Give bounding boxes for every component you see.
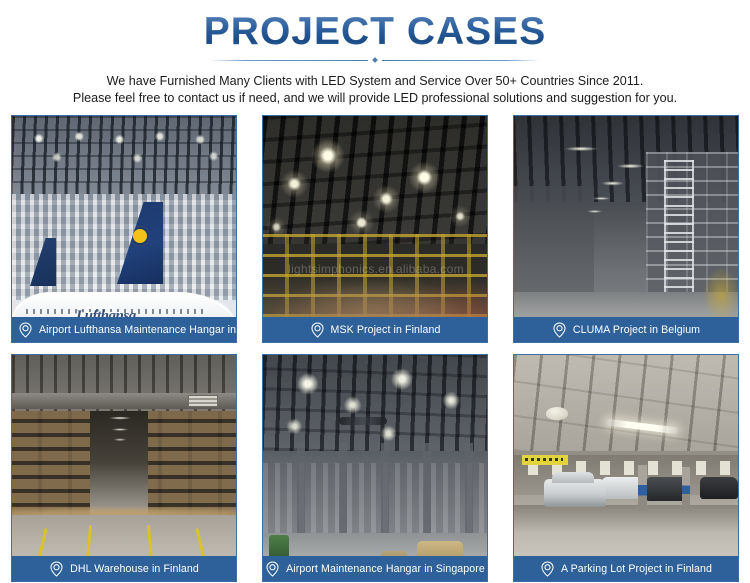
case-caption-text: MSK Project in Finland [331, 324, 441, 336]
garage-sign [522, 455, 568, 465]
location-pin-icon [552, 322, 567, 338]
case-caption-text: A Parking Lot Project in Finland [561, 563, 712, 575]
title-divider-diamond-icon [372, 57, 378, 63]
location-pin-icon [265, 561, 280, 577]
page-subtitle: We have Furnished Many Clients with LED … [25, 73, 725, 107]
case-photo-msk-finland: lightsimphonics.en.alibaba.com [263, 116, 487, 342]
page-title: PROJECT CASES [0, 10, 750, 54]
project-cases-grid: Lufthansa Airport Lufthansa Maintenance … [11, 115, 739, 582]
case-card-airport-hangar-singapore[interactable]: Airport Maintenance Hangar in Singapore [262, 354, 488, 582]
case-photo-cluma-belgium [514, 116, 738, 342]
title-divider-right [382, 60, 540, 61]
case-card-cluma-belgium[interactable]: CLUMA Project in Belgium [513, 115, 739, 343]
case-caption-bar: DHL Warehouse in Finland [12, 556, 236, 581]
location-pin-icon [310, 322, 325, 338]
location-pin-icon [540, 561, 555, 577]
project-cases-page: PROJECT CASES We have Furnished Many Cli… [0, 0, 750, 583]
subtitle-line-1: We have Furnished Many Clients with LED … [25, 73, 725, 90]
case-caption-bar: MSK Project in Finland [263, 317, 487, 342]
case-photo-parking-lot-finland [514, 355, 738, 581]
case-card-dhl-warehouse-finland[interactable]: DHL Warehouse in Finland [11, 354, 237, 582]
location-pin-icon [18, 322, 33, 338]
case-photo-airport-lufthansa-frankfurt: Lufthansa [12, 116, 236, 342]
page-header: PROJECT CASES We have Furnished Many Cli… [0, 0, 750, 107]
title-divider [210, 56, 540, 66]
case-caption-bar: Airport Lufthansa Maintenance Hangar in … [12, 317, 236, 342]
case-caption-bar: CLUMA Project in Belgium [514, 317, 738, 342]
location-pin-icon [49, 561, 64, 577]
case-caption-text: DHL Warehouse in Finland [70, 563, 199, 575]
case-card-msk-finland[interactable]: lightsimphonics.en.alibaba.com MSK Proje… [262, 115, 488, 343]
case-caption-text: Airport Maintenance Hangar in Singapore [286, 563, 485, 575]
case-caption-text: CLUMA Project in Belgium [573, 324, 700, 336]
case-photo-airport-hangar-singapore [263, 355, 487, 581]
subtitle-line-2: Please feel free to contact us if need, … [25, 90, 725, 107]
case-caption-bar: A Parking Lot Project in Finland [514, 556, 738, 581]
case-caption-text: Airport Lufthansa Maintenance Hangar in … [39, 324, 237, 336]
title-divider-left [210, 60, 368, 61]
case-card-parking-lot-finland[interactable]: A Parking Lot Project in Finland [513, 354, 739, 582]
case-caption-bar: Airport Maintenance Hangar in Singapore [263, 556, 487, 581]
case-photo-dhl-warehouse-finland [12, 355, 236, 581]
case-card-airport-lufthansa-frankfurt[interactable]: Lufthansa Airport Lufthansa Maintenance … [11, 115, 237, 343]
